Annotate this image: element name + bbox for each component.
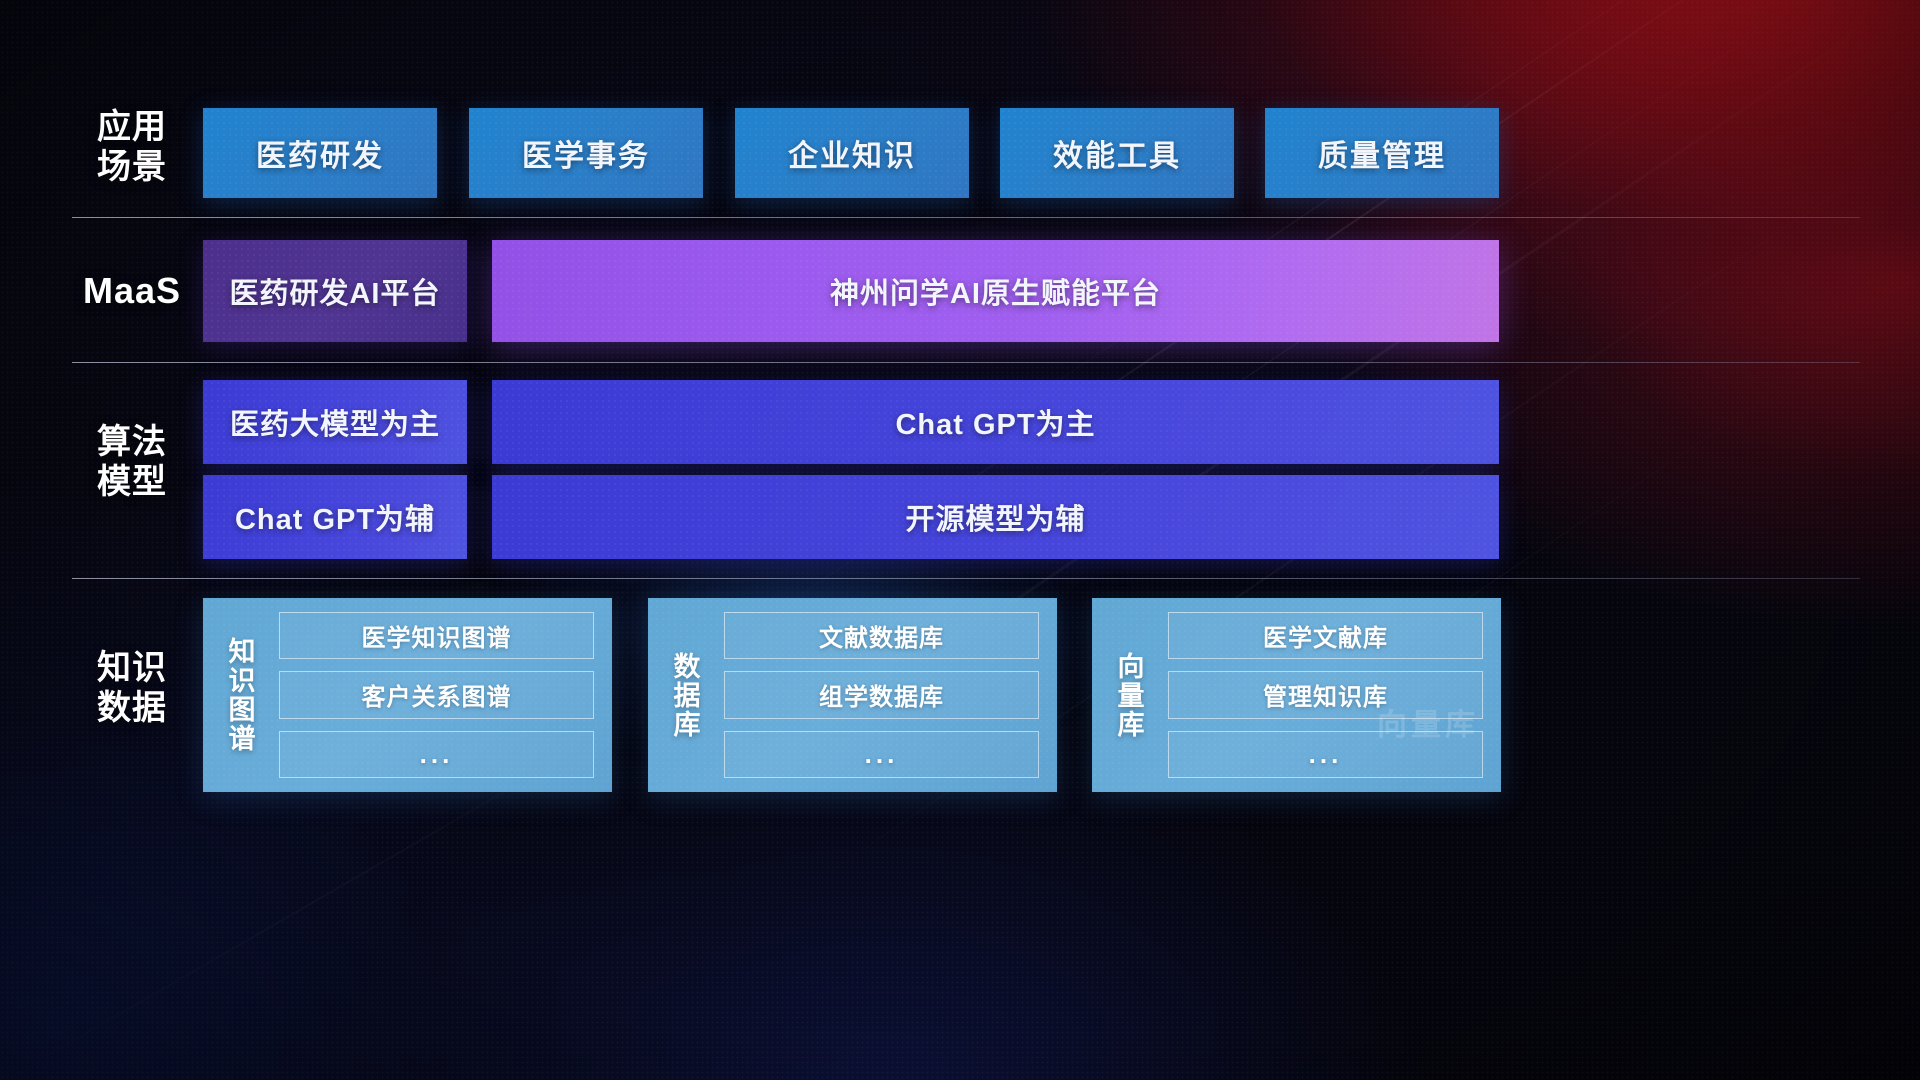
tier-label-knowledge-data: 知识 数据 bbox=[72, 648, 192, 728]
app-box-efficiency-tools[interactable]: 效能工具 bbox=[1000, 108, 1234, 198]
knowledge-sub-item[interactable]: 医学知识图谱 bbox=[279, 612, 594, 659]
model-box-label: Chat GPT为辅 bbox=[235, 496, 435, 538]
knowledge-sub-item-more[interactable]: ... bbox=[1168, 731, 1483, 778]
tier-divider-1 bbox=[72, 217, 1860, 218]
app-box-quality-management[interactable]: 质量管理 bbox=[1265, 108, 1499, 198]
app-box-label: 质量管理 bbox=[1318, 131, 1446, 175]
model-box-chatgpt-primary[interactable]: Chat GPT为主 bbox=[492, 380, 1499, 464]
app-box-label: 医学事务 bbox=[522, 131, 650, 175]
knowledge-sub-item-more[interactable]: ... bbox=[279, 731, 594, 778]
model-box-label: Chat GPT为主 bbox=[895, 401, 1095, 443]
model-box-label: 开源模型为辅 bbox=[905, 496, 1085, 538]
knowledge-panel-database[interactable]: 数据库 文献数据库 组学数据库 ... bbox=[648, 598, 1057, 792]
knowledge-panel-label: 数据库 bbox=[648, 598, 720, 792]
app-box-medicine-rd[interactable]: 医药研发 bbox=[203, 108, 437, 198]
knowledge-sub-item[interactable]: 客户关系图谱 bbox=[279, 671, 594, 718]
tier-label-line: 场景 bbox=[72, 147, 192, 187]
tier-divider-2 bbox=[72, 362, 1860, 363]
tier-label-algorithm-models: 算法 模型 bbox=[72, 422, 192, 502]
maas-box-label: 医药研发AI平台 bbox=[229, 270, 440, 312]
knowledge-panel-items: 文献数据库 组学数据库 ... bbox=[720, 598, 1057, 792]
tier-label-line: 模型 bbox=[72, 462, 192, 502]
tier-label-line: 应用 bbox=[72, 107, 192, 147]
tier-label-line: MaaS bbox=[66, 270, 198, 312]
knowledge-panel-items: 医学知识图谱 客户关系图谱 ... bbox=[275, 598, 612, 792]
diagram-canvas: 应用 场景 医药研发 医学事务 企业知识 效能工具 质量管理 MaaS 医药研发… bbox=[0, 0, 1920, 1080]
tier-label-line: 算法 bbox=[72, 422, 192, 462]
knowledge-panel-label: 向量库 bbox=[1092, 598, 1164, 792]
tier-label-application-scenarios: 应用 场景 bbox=[72, 107, 192, 187]
app-box-medical-affairs[interactable]: 医学事务 bbox=[469, 108, 703, 198]
tier-label-line: 数据 bbox=[72, 688, 192, 728]
knowledge-sub-item[interactable]: 医学文献库 bbox=[1168, 612, 1483, 659]
knowledge-panel-label: 知识图谱 bbox=[203, 598, 275, 792]
app-box-label: 企业知识 bbox=[788, 131, 916, 175]
knowledge-sub-item[interactable]: 组学数据库 bbox=[724, 671, 1039, 718]
maas-box-shenzhou-wenxue-platform[interactable]: 神州问学AI原生赋能平台 bbox=[492, 240, 1499, 342]
model-box-medicine-large-model-primary[interactable]: 医药大模型为主 bbox=[203, 380, 467, 464]
knowledge-panel-items: 医学文献库 管理知识库 ... bbox=[1164, 598, 1501, 792]
knowledge-sub-item-more[interactable]: ... bbox=[724, 731, 1039, 778]
knowledge-panel-knowledge-graph[interactable]: 知识图谱 医学知识图谱 客户关系图谱 ... bbox=[203, 598, 612, 792]
maas-box-medicine-rd-ai-platform[interactable]: 医药研发AI平台 bbox=[203, 240, 467, 342]
model-box-opensource-secondary[interactable]: 开源模型为辅 bbox=[492, 475, 1499, 559]
tier-label-maas: MaaS bbox=[66, 270, 198, 312]
knowledge-panel-vector-store[interactable]: 向量库 医学文献库 管理知识库 ... 向量库 bbox=[1092, 598, 1501, 792]
tier-divider-3 bbox=[72, 578, 1860, 579]
app-box-label: 医药研发 bbox=[256, 131, 384, 175]
app-box-label: 效能工具 bbox=[1053, 131, 1181, 175]
tier-label-line: 知识 bbox=[72, 648, 192, 688]
knowledge-sub-item[interactable]: 管理知识库 bbox=[1168, 671, 1483, 718]
app-box-enterprise-knowledge[interactable]: 企业知识 bbox=[735, 108, 969, 198]
maas-box-label: 神州问学AI原生赋能平台 bbox=[830, 270, 1161, 312]
model-box-label: 医药大模型为主 bbox=[230, 401, 440, 443]
knowledge-sub-item[interactable]: 文献数据库 bbox=[724, 612, 1039, 659]
model-box-chatgpt-secondary[interactable]: Chat GPT为辅 bbox=[203, 475, 467, 559]
